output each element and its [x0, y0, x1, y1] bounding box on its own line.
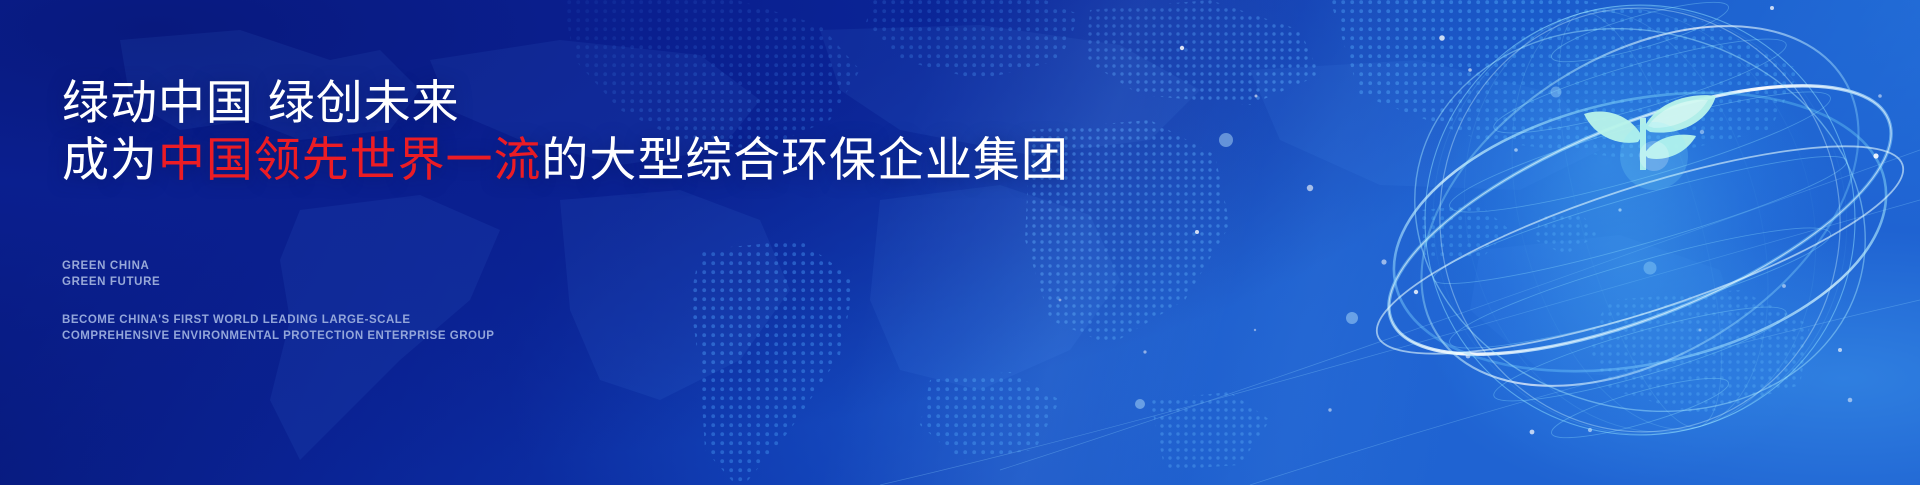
subtitle-long-line-1: BECOME CHINA'S FIRST WORLD LEADING LARGE… — [62, 312, 495, 328]
headline-highlight: 中国领先世界一流 — [158, 133, 542, 186]
subtitle-short: GREEN CHINA GREEN FUTURE — [62, 258, 160, 291]
headline-prefix: 成为 — [62, 133, 158, 186]
subtitle-long-line-2: COMPREHENSIVE ENVIRONMENTAL PROTECTION E… — [62, 328, 495, 344]
particle-field — [0, 0, 1920, 485]
subtitle-long: BECOME CHINA'S FIRST WORLD LEADING LARGE… — [62, 312, 495, 345]
headline-line-2: 成为中国领先世界一流的大型综合环保企业集团 — [62, 135, 1082, 186]
light-sweep — [0, 0, 1920, 485]
wireframe-globe-icon — [1320, 0, 1920, 485]
hero-banner: 绿动中国 绿创未来 成为中国领先世界一流的大型综合环保企业集团 GREEN CH… — [0, 0, 1920, 485]
subtitle-short-line-2: GREEN FUTURE — [62, 274, 160, 290]
dotted-world-map-icon — [0, 0, 1920, 485]
subtitle-short-line-1: GREEN CHINA — [62, 258, 160, 274]
headline-suffix: 的大型综合环保企业集团 — [541, 133, 1068, 186]
globe-glow — [1410, 40, 1850, 480]
sprout-leaf-icon — [1584, 95, 1716, 170]
headline-line-1: 绿动中国 绿创未来 — [62, 78, 1082, 129]
world-map-wash — [0, 0, 1920, 485]
headline-block: 绿动中国 绿创未来 成为中国领先世界一流的大型综合环保企业集团 — [62, 78, 1082, 186]
